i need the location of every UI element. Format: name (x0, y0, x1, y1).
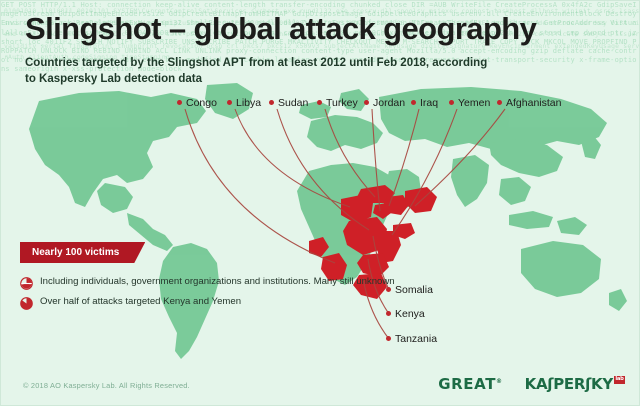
marker-dot-icon (227, 100, 232, 105)
world-map (1, 79, 640, 369)
marker-dot-icon (497, 100, 502, 105)
page-title: Slingshot – global attack geography (1, 1, 640, 46)
marker-dot-icon (411, 100, 416, 105)
kaspersky-logo: KAʃPERʃKYlab (525, 375, 625, 393)
marker-dot-icon (449, 100, 454, 105)
map-label-text: Iraq (420, 97, 438, 109)
great-logo-tm: ® (496, 378, 503, 385)
world-map-svg (1, 79, 640, 369)
map-label-text: Somalia (395, 284, 433, 296)
map-label-libya[interactable]: Libya (227, 97, 261, 109)
infographic-root: GET POST HTTP/1.1 Host: connection keep-… (0, 0, 640, 406)
kaspersky-logo-text: KAʃPERʃKY (525, 375, 613, 393)
header: Slingshot – global attack geography Coun… (1, 1, 640, 88)
legend-panel: Nearly 100 victims Including individuals… (20, 242, 395, 316)
legend-item-text: Over half of attacks targeted Kenya and … (40, 296, 241, 309)
map-label-afghanistan[interactable]: Afghanistan (497, 97, 561, 109)
map-label-text: Jordan (373, 97, 405, 109)
marker-dot-icon (364, 100, 369, 105)
map-label-sudan[interactable]: Sudan (269, 97, 308, 109)
country-afghanistan (405, 187, 437, 213)
map-label-text: Sudan (278, 97, 308, 109)
legend-items: Including individuals, government organi… (20, 276, 395, 310)
map-label-text: Kenya (395, 308, 425, 320)
marker-dot-icon (269, 100, 274, 105)
great-logo-text: GREAT (438, 375, 496, 393)
map-label-text: Tanzania (395, 333, 437, 345)
map-label-yemen[interactable]: Yemen (449, 97, 490, 109)
legend-item-text: Including individuals, government organi… (40, 276, 395, 289)
marker-dot-icon (386, 336, 391, 341)
pie-chart-icon (20, 277, 33, 290)
map-label-congo[interactable]: Congo (177, 97, 217, 109)
legend-item: Including individuals, government organi… (20, 276, 395, 290)
footer: © 2018 AO Kaspersky Lab. All Rights Rese… (1, 371, 640, 405)
map-label-jordan[interactable]: Jordan (364, 97, 405, 109)
map-label-text: Turkey (326, 97, 358, 109)
map-landmasses (29, 83, 627, 359)
great-logo: GREAT® (438, 375, 502, 393)
map-label-turkey[interactable]: Turkey (317, 97, 358, 109)
marker-dot-icon (177, 100, 182, 105)
kaspersky-lab-mark: lab (614, 376, 625, 384)
footer-logos: GREAT® KAʃPERʃKYlab (438, 375, 625, 393)
map-label-iraq[interactable]: Iraq (411, 97, 438, 109)
map-label-text: Afghanistan (506, 97, 561, 109)
marker-dot-icon (317, 100, 322, 105)
map-label-tanzania[interactable]: Tanzania (386, 333, 437, 345)
legend-item: Over half of attacks targeted Kenya and … (20, 296, 395, 310)
legend-banner: Nearly 100 victims (20, 242, 145, 263)
map-label-text: Congo (186, 97, 217, 109)
map-label-text: Yemen (458, 97, 490, 109)
page-subtitle: Countries targeted by the Slingshot APT … (1, 46, 495, 88)
pie-chart-half-icon (20, 297, 33, 310)
map-label-text: Libya (236, 97, 261, 109)
copyright-text: © 2018 AO Kaspersky Lab. All Rights Rese… (23, 381, 190, 390)
